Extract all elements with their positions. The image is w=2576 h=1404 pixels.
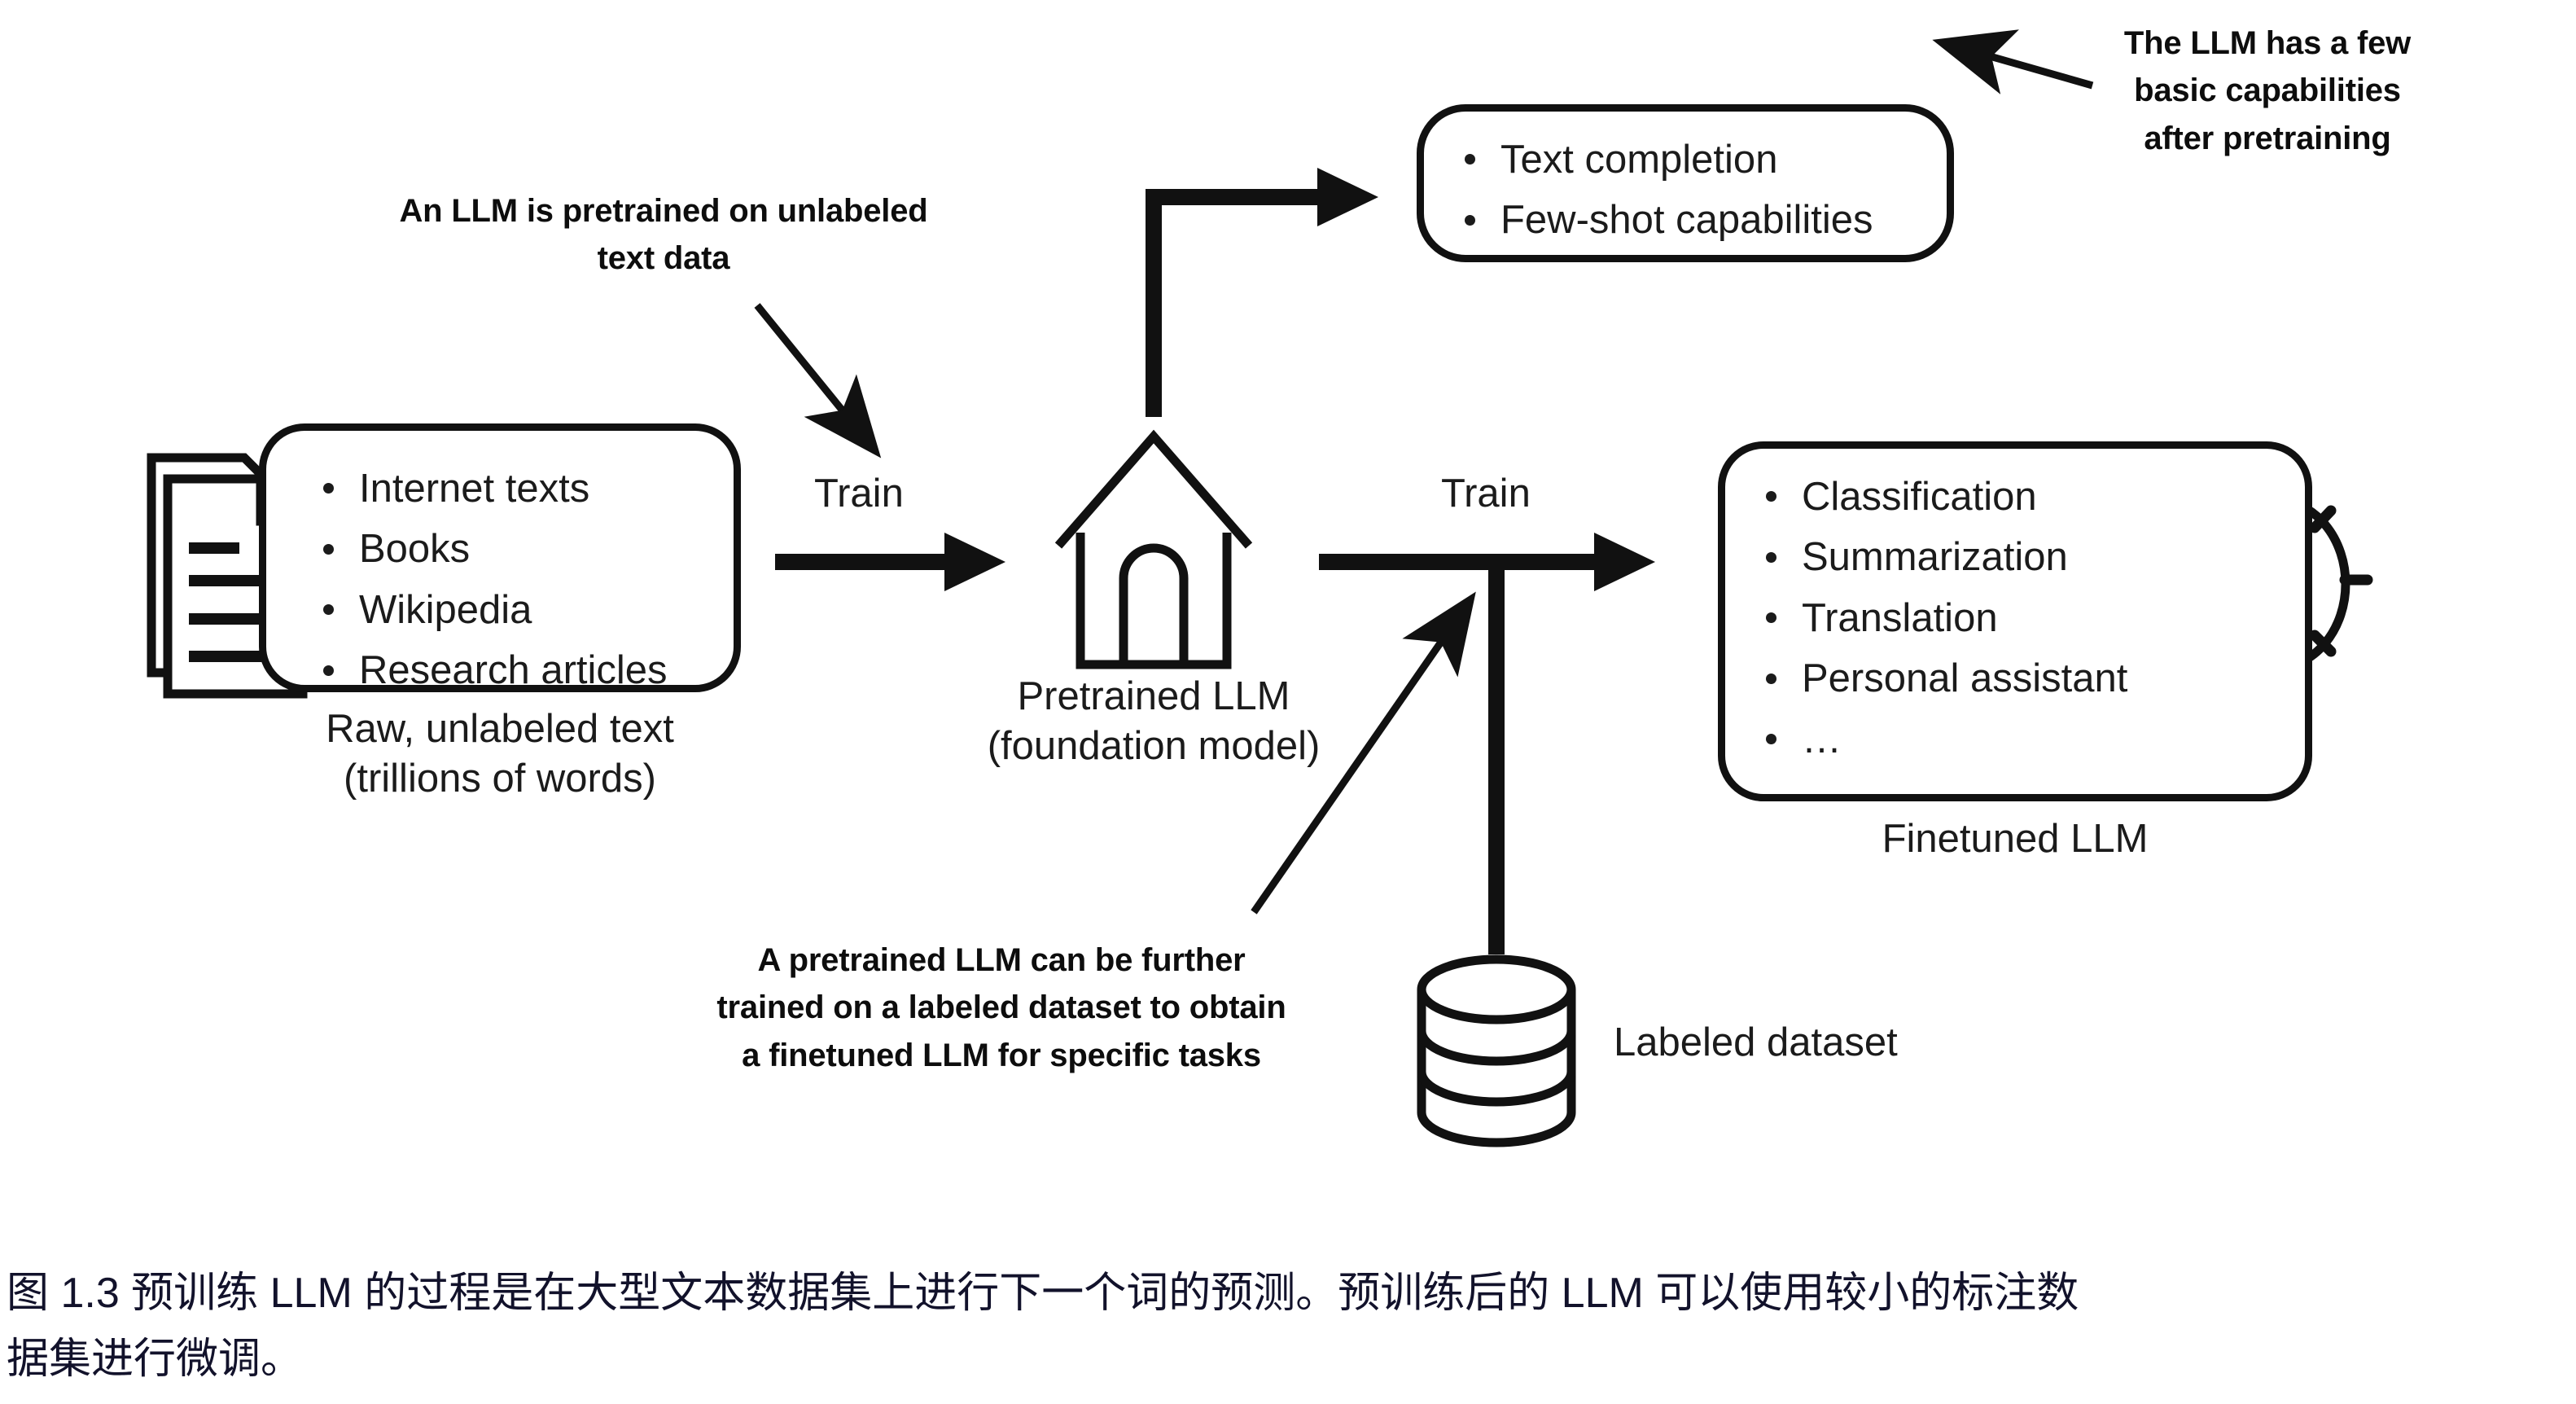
raw-data-label-line1: Raw, unlabeled text <box>259 704 741 754</box>
annotation-capabilities-line1: The LLM has a few <box>2084 20 2451 67</box>
raw-data-label-line2: (trillions of words) <box>259 754 741 804</box>
house-icon <box>1058 437 1249 665</box>
list-item: … <box>1759 709 2305 770</box>
list-item: Wikipedia <box>317 580 734 640</box>
pretrained-model-label: Pretrained LLM (foundation model) <box>909 672 1398 771</box>
finetuned-label: Finetuned LLM <box>1718 814 2312 864</box>
finetuned-bullets: Classification Summarization Translation… <box>1759 467 2305 770</box>
figure-caption-line1: 图 1.3 预训练 LLM 的过程是在大型文本数据集上进行下一个词的预测。预训练… <box>7 1261 2571 1327</box>
finetuned-box[interactable]: Classification Summarization Translation… <box>1718 441 2312 801</box>
list-item: Summarization <box>1759 527 2305 587</box>
raw-data-bullets: Internet texts Books Wikipedia Research … <box>317 458 734 701</box>
annotation-arrow-pretraining <box>757 305 870 444</box>
annotation-finetuning-line3: a finetuned LLM for specific tasks <box>643 1032 1360 1079</box>
capabilities-box[interactable]: Text completion Few-shot capabilities <box>1417 104 1954 262</box>
annotation-capabilities: The LLM has a few basic capabilities aft… <box>2084 20 2451 162</box>
arrow-pretrained-to-capabilities <box>1154 168 1378 417</box>
arrow-train-pretrain <box>775 533 1005 591</box>
figure-caption: 图 1.3 预训练 LLM 的过程是在大型文本数据集上进行下一个词的预测。预训练… <box>7 1261 2571 1392</box>
annotation-finetuning: A pretrained LLM can be further trained … <box>643 937 1360 1079</box>
raw-data-box[interactable]: Internet texts Books Wikipedia Research … <box>259 423 741 692</box>
annotation-arrow-capabilities <box>1950 45 2092 86</box>
annotation-finetuning-line2: trained on a labeled dataset to obtain <box>643 984 1360 1031</box>
annotation-pretraining-line1: An LLM is pretrained on unlabeled <box>342 187 985 235</box>
list-item: Research articles <box>317 640 734 700</box>
figure-caption-line2: 据集进行微调。 <box>7 1327 2571 1393</box>
pretrained-model-label-line2: (foundation model) <box>909 722 1398 771</box>
annotation-capabilities-line2: basic capabilities <box>2084 67 2451 114</box>
train-label-finetune: Train <box>1441 471 1531 516</box>
pretrained-model-label-line1: Pretrained LLM <box>909 672 1398 722</box>
labeled-dataset-label: Labeled dataset <box>1614 1020 1898 1065</box>
annotation-capabilities-line3: after pretraining <box>2084 115 2451 162</box>
database-icon <box>1422 959 1571 1143</box>
train-label-pretrain: Train <box>814 471 904 516</box>
capabilities-bullets: Text completion Few-shot capabilities <box>1458 129 1947 251</box>
annotation-pretraining: An LLM is pretrained on unlabeled text d… <box>342 187 985 283</box>
list-item: Text completion <box>1458 129 1947 190</box>
figure-canvas: Internet texts Books Wikipedia Research … <box>0 0 2576 1404</box>
annotation-finetuning-line1: A pretrained LLM can be further <box>643 937 1360 984</box>
raw-data-label: Raw, unlabeled text (trillions of words) <box>259 704 741 804</box>
list-item: Personal assistant <box>1759 648 2305 709</box>
list-item: Few-shot capabilities <box>1458 190 1947 250</box>
list-item: Translation <box>1759 588 2305 648</box>
list-item: Classification <box>1759 467 2305 527</box>
list-item: Books <box>317 519 734 579</box>
annotation-pretraining-line2: text data <box>342 235 985 282</box>
list-item: Internet texts <box>317 458 734 519</box>
